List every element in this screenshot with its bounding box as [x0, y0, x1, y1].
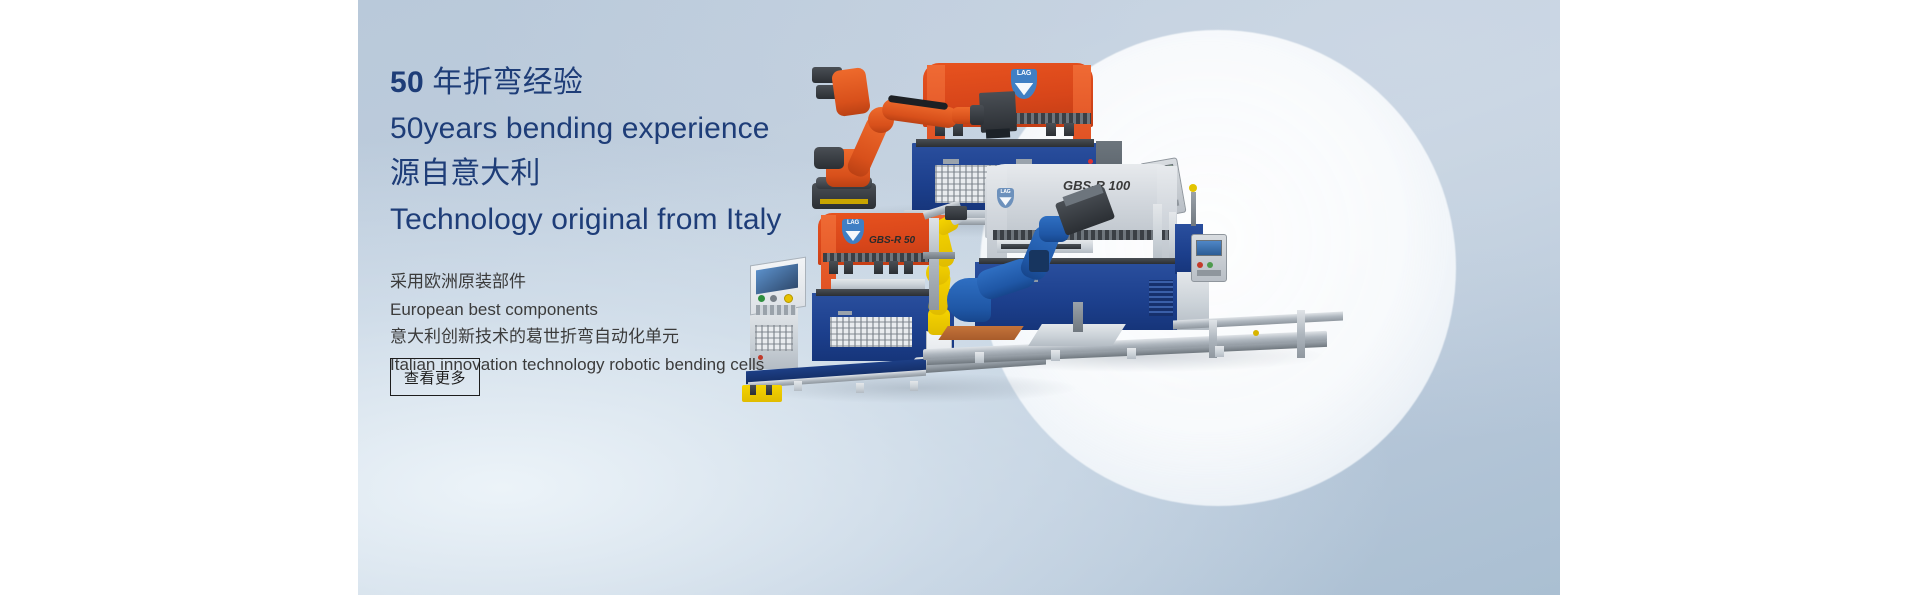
hero-banner: LAG — [358, 0, 1560, 595]
lag-badge-text: LAG — [1001, 188, 1011, 197]
subtext-line-3: 意大利创新技术的葛世折弯自动化单元 — [390, 323, 950, 351]
subtext-line-1: 采用欧洲原装部件 — [390, 268, 950, 296]
pendant-screen — [1196, 240, 1222, 257]
pendant-keypad[interactable] — [1197, 270, 1221, 276]
pendant-button-green[interactable] — [1207, 262, 1213, 268]
view-more-button[interactable]: 查看更多 — [390, 358, 480, 396]
machine-foot — [856, 383, 864, 393]
gripper-head-box — [979, 91, 1017, 133]
headline-line-3: 源自意大利 — [390, 151, 950, 197]
hero-text-block: 50 年折弯经验 50years bending experience 源自意大… — [390, 60, 950, 378]
machine-foot — [910, 381, 918, 391]
rail-foot — [1215, 346, 1224, 357]
lag-badge-text: LAG — [1017, 69, 1031, 78]
yellow-fixture-block — [742, 385, 782, 402]
rail-foot — [975, 352, 984, 363]
punch-tool — [1046, 123, 1056, 136]
workpiece-sheet — [938, 326, 1023, 340]
gripper-jaw — [986, 128, 1010, 138]
subtext-line-2: European best components — [390, 296, 950, 324]
headline-line-2: 50years bending experience — [390, 106, 950, 152]
robot-tool-flange — [970, 105, 984, 125]
press-column-right — [1073, 65, 1091, 143]
punch-tool — [1064, 123, 1074, 136]
pendant-mast — [1191, 192, 1196, 226]
pendant-button-red[interactable] — [1197, 262, 1203, 268]
rail-foot — [1051, 350, 1060, 361]
hydraulic-cylinder — [1153, 204, 1162, 266]
safety-indicator — [1253, 330, 1259, 336]
headline-line-4: Technology original from Italy — [390, 197, 950, 243]
rail-foot — [1127, 348, 1136, 359]
machine-foot — [794, 381, 802, 391]
page-root: LAG — [0, 0, 1920, 595]
headline-number: 50 — [390, 66, 424, 99]
headline-line-1: 50 年折弯经验 — [390, 60, 950, 106]
fixture-slot — [766, 385, 772, 395]
headline-line-1-text: 年折弯经验 — [424, 66, 583, 99]
rail-support-post — [1297, 310, 1305, 358]
punch-tooling-rail — [993, 230, 1171, 240]
fixture-slot — [750, 385, 756, 395]
centering-table-post — [1073, 302, 1083, 332]
robot-joint-cover — [1029, 250, 1049, 272]
signal-beacon — [1189, 184, 1197, 192]
teach-pendant[interactable] — [1191, 234, 1227, 282]
machine-gbsr100-bending-cell: GBS-R 100 LAG — [923, 160, 1343, 390]
ventilation-grille — [1149, 280, 1173, 316]
